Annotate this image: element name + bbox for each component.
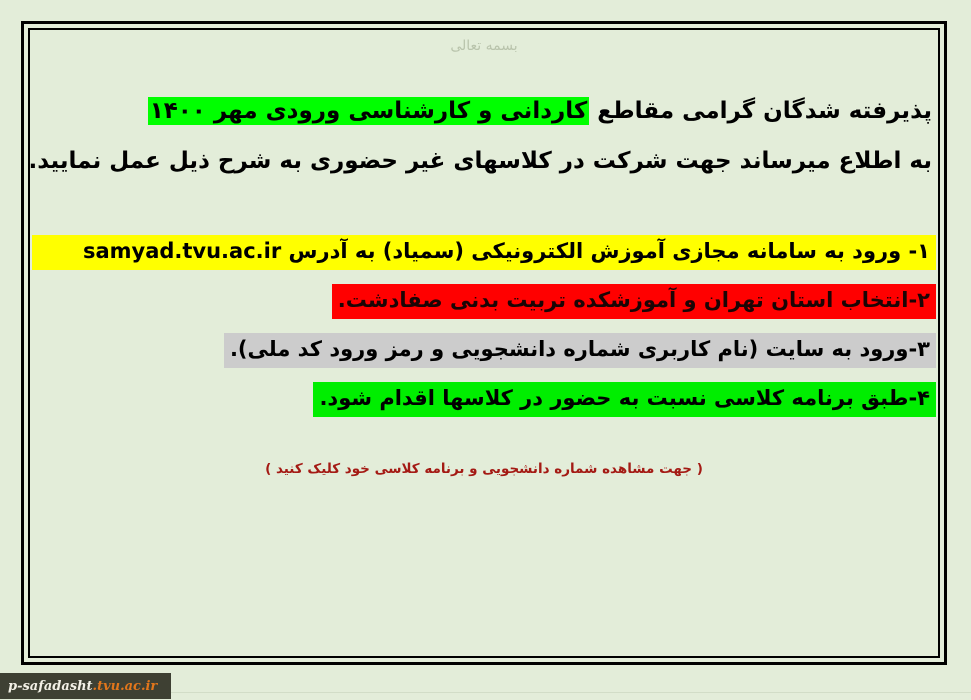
heading-line-1-prefix: پذیرفته شدگان گرامی مقاطع	[589, 98, 932, 124]
document-content: بسمه تعالی پذیرفته شدگان گرامی مقاطع کار…	[32, 30, 936, 652]
site-watermark-bar: p-safadasht.tvu.ac.ir	[0, 673, 171, 699]
list-item: ۴-طبق برنامه کلاسی نسبت به حضور در کلاسه…	[32, 382, 936, 417]
heading-line-1-highlight: کاردانی و کارشناسی ورودی مهر ۱۴۰۰	[148, 97, 590, 125]
step-2-chip: ۲-انتخاب استان تهران و آموزشکده تربیت بد…	[332, 284, 936, 319]
page-sheet: بسمه تعالی پذیرفته شدگان گرامی مقاطع کار…	[0, 0, 971, 692]
heading-line-2: به اطلاع میرساند جهت شرکت در کلاسهای غیر…	[32, 146, 932, 178]
click-here-link[interactable]: ( جهت مشاهده شماره دانشجویی و برنامه کلا…	[32, 461, 936, 477]
step-1-url[interactable]: samyad.tvu.ac.ir	[83, 241, 281, 262]
list-item: ۳-ورود به سایت (نام کاربری شماره دانشجوی…	[32, 333, 936, 368]
steps-list: ۱- ورود به سامانه مجازی آموزش الکترونیکی…	[32, 235, 936, 417]
site-name-label: p-safadasht	[8, 680, 93, 693]
step-1-chip: ۱- ورود به سامانه مجازی آموزش الکترونیکی…	[32, 235, 936, 270]
heading-line-1: پذیرفته شدگان گرامی مقاطع کاردانی و کارش…	[32, 96, 932, 128]
site-domain-label: .tvu.ac.ir	[93, 680, 158, 693]
step-4-chip: ۴-طبق برنامه کلاسی نسبت به حضور در کلاسه…	[313, 382, 936, 417]
bismillah-header: بسمه تعالی	[32, 38, 936, 54]
list-item: ۱- ورود به سامانه مجازی آموزش الکترونیکی…	[32, 235, 936, 270]
step-3-chip: ۳-ورود به سایت (نام کاربری شماره دانشجوی…	[224, 333, 936, 368]
step-1-text: ۱- ورود به سامانه مجازی آموزش الکترونیکی…	[281, 239, 930, 263]
list-item: ۲-انتخاب استان تهران و آموزشکده تربیت بد…	[32, 284, 936, 319]
heading-block: پذیرفته شدگان گرامی مقاطع کاردانی و کارش…	[32, 96, 936, 177]
